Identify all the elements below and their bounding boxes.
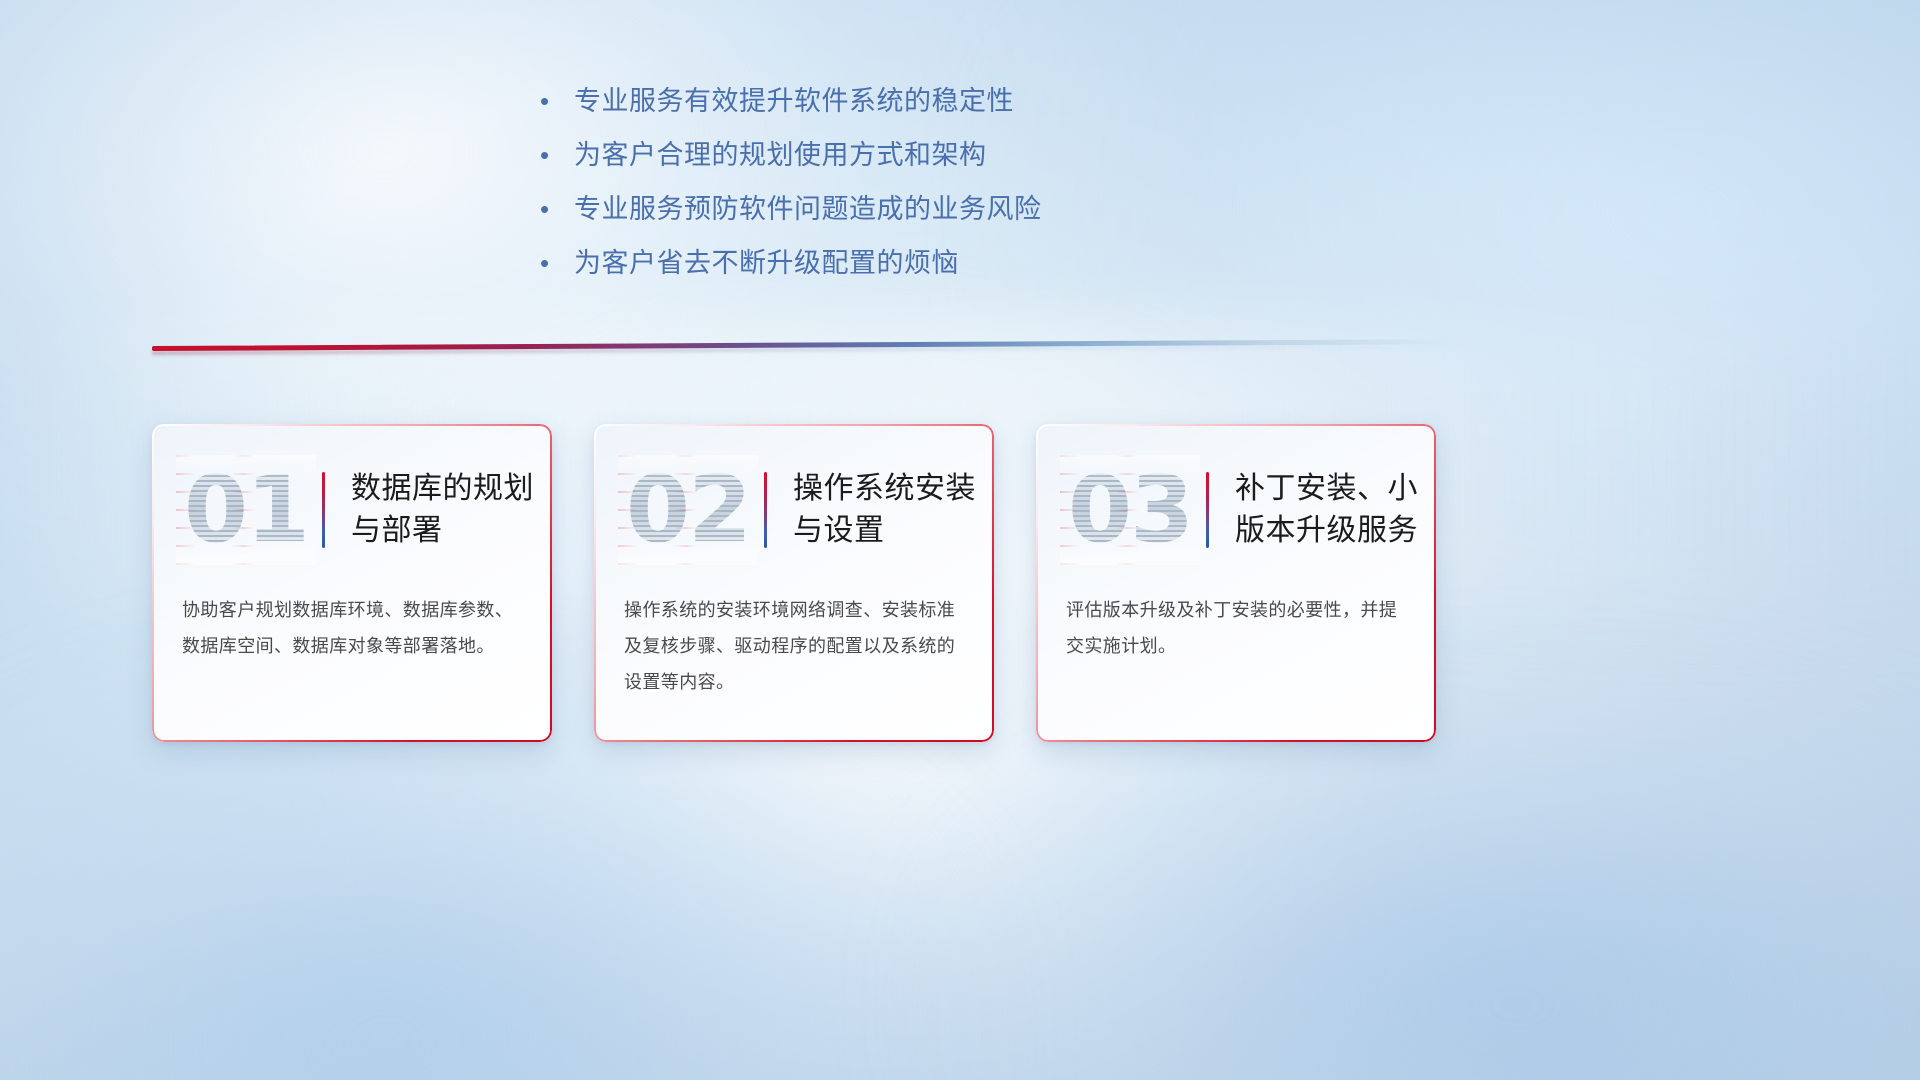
- benefits-bullet-list: • 专业服务有效提升软件系统的稳定性 • 为客户合理的规划使用方式和架构 • 专…: [540, 86, 1300, 302]
- bullet-item: • 专业服务预防软件问题造成的业务风险: [540, 194, 1300, 224]
- bullet-text: 为客户省去不断升级配置的烦恼: [574, 248, 959, 278]
- card-number-badge: 03: [1060, 455, 1200, 565]
- bullet-dot-icon: •: [540, 194, 574, 224]
- card-description: 评估版本升级及补丁安装的必要性，并提交实施计划。: [1066, 592, 1410, 664]
- bullet-item: • 为客户合理的规划使用方式和架构: [540, 140, 1300, 170]
- card-title: 补丁安装、小版本升级服务: [1235, 468, 1425, 552]
- service-card-row: 01 数据库的规划与部署 协助客户规划数据库环境、数据库参数、数据库空间、数据库…: [152, 424, 1436, 742]
- slide-canvas: • 专业服务有效提升软件系统的稳定性 • 为客户合理的规划使用方式和架构 • 专…: [0, 0, 1920, 1080]
- card-header: 01 数据库的规划与部署: [152, 446, 552, 574]
- bullet-text: 专业服务预防软件问题造成的业务风险: [574, 194, 1042, 224]
- card-number-badge: 02: [618, 455, 758, 565]
- service-card-02[interactable]: 02 操作系统安装与设置 操作系统的安装环境网络调查、安装标准及复核步骤、驱动程…: [594, 424, 994, 742]
- card-number-text: 02: [626, 455, 750, 565]
- card-title: 操作系统安装与设置: [793, 468, 983, 552]
- bullet-dot-icon: •: [540, 140, 574, 170]
- bullet-item: • 专业服务有效提升软件系统的稳定性: [540, 86, 1300, 116]
- card-accent-bar: [764, 472, 767, 548]
- card-header: 03 补丁安装、小版本升级服务: [1036, 446, 1436, 574]
- card-accent-bar: [1206, 472, 1209, 548]
- card-number-badge: 01: [176, 455, 316, 565]
- section-divider: [152, 346, 1462, 356]
- card-accent-bar: [322, 472, 325, 548]
- bullet-item: • 为客户省去不断升级配置的烦恼: [540, 248, 1300, 278]
- card-header: 02 操作系统安装与设置: [594, 446, 994, 574]
- bullet-dot-icon: •: [540, 248, 574, 278]
- bullet-text: 专业服务有效提升软件系统的稳定性: [574, 86, 1014, 116]
- bullet-text: 为客户合理的规划使用方式和架构: [574, 140, 987, 170]
- card-description: 操作系统的安装环境网络调查、安装标准及复核步骤、驱动程序的配置以及系统的设置等内…: [624, 592, 968, 700]
- card-number-text: 03: [1068, 455, 1192, 565]
- card-description: 协助客户规划数据库环境、数据库参数、数据库空间、数据库对象等部署落地。: [182, 592, 526, 664]
- card-number-text: 01: [184, 455, 308, 565]
- bullet-dot-icon: •: [540, 86, 574, 116]
- card-title: 数据库的规划与部署: [351, 468, 541, 552]
- service-card-03[interactable]: 03 补丁安装、小版本升级服务 评估版本升级及补丁安装的必要性，并提交实施计划。: [1036, 424, 1436, 742]
- service-card-01[interactable]: 01 数据库的规划与部署 协助客户规划数据库环境、数据库参数、数据库空间、数据库…: [152, 424, 552, 742]
